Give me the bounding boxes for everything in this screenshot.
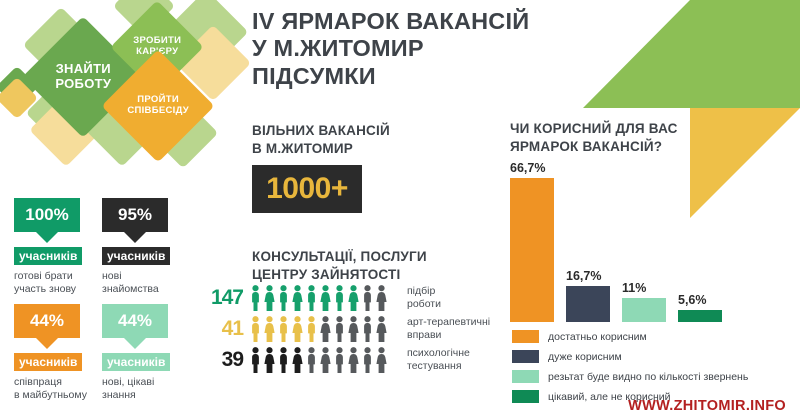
legend-item: достатньо корисним <box>512 328 797 345</box>
green-trapezoid-shape <box>583 0 800 108</box>
stat-percent: 44% <box>118 311 152 331</box>
logo-tile-label: ЗНАЙТИ РОБОТУ <box>55 62 111 91</box>
person-icon <box>319 347 332 373</box>
legend-swatch <box>512 350 539 363</box>
person-icon <box>277 347 290 373</box>
stat-pill-label: учасників <box>107 355 165 369</box>
person-icon <box>375 347 388 373</box>
pictogram-icon-group <box>249 285 399 311</box>
chart-legend: достатньо кориснимдуже кориснимрезьтат б… <box>512 328 797 408</box>
bar-column: 16,7% <box>566 286 610 322</box>
person-icon <box>319 285 332 311</box>
person-icon <box>375 285 388 311</box>
bar-value-label: 11% <box>622 281 646 295</box>
logo-diamond-cluster: ЗНАЙТИ РОБОТУ ЗРОБИТИ КАР'ЄРУ ПРОЙТИ СПІ… <box>0 0 250 165</box>
person-icon <box>305 347 318 373</box>
legend-swatch <box>512 390 539 403</box>
legend-label: дуже корисним <box>539 351 622 363</box>
stat-description: нові знайомства <box>102 270 188 296</box>
person-icon <box>249 316 262 342</box>
person-icon <box>263 347 276 373</box>
person-icon <box>361 316 374 342</box>
infographic-canvas: ЗНАЙТИ РОБОТУ ЗРОБИТИ КАР'ЄРУ ПРОЙТИ СПІ… <box>0 0 800 420</box>
stat-description: співпраця в майбутньому <box>14 376 100 402</box>
logo-tile-label: ПРОЙТИ СПІВБЕСІДУ <box>127 95 189 116</box>
chart-title: ЧИ КОРИСНИЙ ДЛЯ ВАС ЯРМАРОК ВАКАНСІЙ? <box>510 120 730 156</box>
pictogram-rows: 147підбір роботи41арт-терапевтичні вправ… <box>205 283 505 376</box>
legend-swatch <box>512 370 539 383</box>
person-icon <box>249 347 262 373</box>
pictogram-label: психологічне тестування <box>399 347 470 373</box>
pictogram-row: 41арт-терапевтичні вправи <box>205 314 505 344</box>
bar-rect: 5,6% <box>678 310 722 322</box>
stat-card-2: 44% учасників співпраця в майбутньому <box>14 304 100 402</box>
legend-swatch <box>512 330 539 343</box>
person-icon <box>333 316 346 342</box>
stat-percent-box: 95% <box>102 198 168 232</box>
person-icon <box>333 347 346 373</box>
pictogram-icon-group <box>249 347 399 373</box>
bar-rect: 16,7% <box>566 286 610 322</box>
person-icon <box>347 285 360 311</box>
person-icon <box>263 285 276 311</box>
stat-percent: 100% <box>25 205 68 225</box>
stat-card-0: 100% учасників готові брати участь знову <box>14 198 100 296</box>
person-icon <box>249 285 262 311</box>
bar-column: 11% <box>622 298 666 322</box>
person-icon <box>291 316 304 342</box>
pictogram-label: арт-терапевтичні вправи <box>399 316 490 342</box>
bar-rect: 11% <box>622 298 666 322</box>
stat-pill: учасників <box>102 247 170 265</box>
stat-pill-label: учасників <box>19 249 77 263</box>
person-icon <box>305 316 318 342</box>
person-icon <box>375 316 388 342</box>
person-icon <box>291 285 304 311</box>
stat-percent-box: 44% <box>102 304 168 338</box>
stat-percent-box: 44% <box>14 304 80 338</box>
person-icon <box>361 347 374 373</box>
pictogram-count: 41 <box>205 317 249 341</box>
legend-item: дуже корисним <box>512 348 797 365</box>
stat-pill-label: учасників <box>107 249 165 263</box>
pictogram-icon-group <box>249 316 399 342</box>
bar-value-label: 16,7% <box>566 269 601 283</box>
person-icon <box>361 285 374 311</box>
legend-label: достатньо корисним <box>539 331 647 343</box>
person-icon <box>333 285 346 311</box>
person-icon <box>277 285 290 311</box>
stat-card-3: 44% учасників нові, цікаві знання <box>102 304 188 402</box>
vacancies-heading: ВІЛЬНИХ ВАКАНСІЙ В М.ЖИТОМИР <box>252 122 482 158</box>
pictogram-row: 147підбір роботи <box>205 283 505 313</box>
pictogram-count: 39 <box>205 348 249 372</box>
person-icon <box>347 347 360 373</box>
pictogram-count: 147 <box>205 286 249 310</box>
bar-rect: 66,7% <box>510 178 554 322</box>
pictogram-label: підбір роботи <box>399 285 441 311</box>
watermark: WWW.ZHITOMIR.INFO <box>628 398 786 414</box>
stat-percent: 95% <box>118 205 152 225</box>
bar-value-label: 5,6% <box>678 293 707 307</box>
legend-item: резьтат буде видно по кількості звернень <box>512 368 797 385</box>
person-icon <box>277 316 290 342</box>
stat-description: готові брати участь знову <box>14 270 100 296</box>
stat-pill: учасників <box>102 353 170 371</box>
legend-label: резьтат буде видно по кількості звернень <box>539 371 748 383</box>
bar-chart-plot: 66,7%16,7%11%5,6% <box>510 160 740 322</box>
stat-pill: учасників <box>14 247 82 265</box>
stat-percent: 44% <box>30 311 64 331</box>
vacancies-value-box: 1000+ <box>252 165 362 213</box>
bar-column: 5,6% <box>678 310 722 322</box>
pictogram-row: 39психологічне тестування <box>205 345 505 375</box>
person-icon <box>305 285 318 311</box>
consultations-heading: КОНСУЛЬТАЦІЇ, ПОСЛУГИ ЦЕНТРУ ЗАЙНЯТОСТІ <box>252 248 492 284</box>
person-icon <box>291 347 304 373</box>
bar-column: 66,7% <box>510 178 554 322</box>
stat-description: нові, цікаві знання <box>102 376 188 402</box>
person-icon <box>347 316 360 342</box>
person-icon <box>263 316 276 342</box>
stat-card-1: 95% учасників нові знайомства <box>102 198 188 296</box>
stat-pill: учасників <box>14 353 82 371</box>
stat-pill-label: учасників <box>19 355 77 369</box>
person-icon <box>319 316 332 342</box>
vacancies-value: 1000+ <box>266 172 348 206</box>
page-title: IV ЯРМАРОК ВАКАНСІЙ У М.ЖИТОМИР ПІДСУМКИ <box>252 8 552 90</box>
stat-percent-box: 100% <box>14 198 80 232</box>
bar-value-label: 66,7% <box>510 161 545 175</box>
